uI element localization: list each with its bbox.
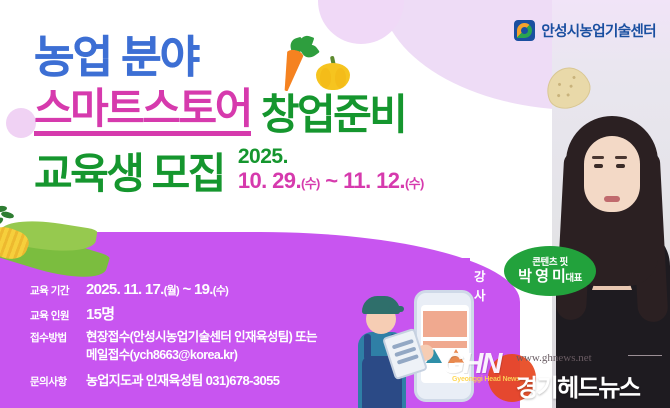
headline-line-2: 스마트스토어 창업준비 [34, 88, 424, 136]
anseong-agri-logo-icon [514, 20, 535, 41]
background-lilac-dot [6, 108, 36, 138]
period-end-weekday: (수) [213, 285, 228, 297]
portrait-brow-right [615, 156, 627, 159]
instructor-company: 콘텐츠 핏 [532, 258, 568, 268]
org-logo: 안성시농업기술센터 [514, 20, 656, 41]
headline-startup: 창업준비 [261, 94, 406, 136]
headline-line-1: 농업 분야 [34, 36, 424, 80]
detail-row-apply-method: 접수방법 현장접수(안성시농업기술센터 인재육성팀) 또는 메일접수(ych86… [30, 329, 317, 365]
detail-list: 교육 기간 2025. 11. 17.(월) ~ 19.(수) 교육 인원 15… [30, 281, 317, 394]
instructor-badge: 콘텐츠 핏 박 영 미대표 [504, 246, 596, 296]
detail-value-inquiry: 농업지도과 인재육성팀 031)678-3055 [86, 370, 279, 389]
apply-period-year: 2025. [238, 145, 424, 169]
detail-row-capacity: 교육 인원 15명 [30, 303, 317, 324]
detail-label-inquiry: 문의사항 [30, 374, 86, 389]
detail-value-capacity: 15명 [86, 303, 114, 324]
apply-period-start: 10. 29. [238, 168, 301, 193]
apply-period: 2025. 10. 29.(수) ~ 11. 12.(수) [238, 145, 424, 195]
headline-line-3: 교육생 모집 2025. 10. 29.(수) ~ 11. 12.(수) [34, 145, 424, 195]
period-end: ~ 19. [179, 281, 213, 298]
apply-period-start-weekday: (수) [301, 176, 320, 191]
instructor-role: 대표 [565, 273, 581, 284]
org-name: 안성시농업기술센터 [541, 20, 656, 41]
detail-row-period: 교육 기간 2025. 11. 17.(월) ~ 19.(수) [30, 281, 317, 298]
farmer-strap [364, 334, 371, 360]
instructor-name: 박 영 미대표 [518, 269, 582, 285]
detail-row-inquiry: 문의사항 농업지도과 인재육성팀 031)678-3055 [30, 370, 317, 389]
detail-value-apply-method: 현장접수(안성시농업기술센터 인재육성팀) 또는 메일접수(ych8663@ko… [86, 329, 317, 365]
ghn-url: www.ghnews.net [516, 352, 592, 364]
detail-value-period: 2025. 11. 17.(월) ~ 19.(수) [86, 281, 228, 298]
promo-banner: 안성시농업기술센터 농업 분야 스마트스토 [0, 0, 670, 408]
apply-period-range: 10. 29.(수) ~ 11. 12.(수) [238, 169, 424, 194]
corn-icon [0, 212, 110, 286]
apply-period-tilde: ~ [320, 168, 343, 193]
apply-period-end: 11. 12. [343, 168, 405, 193]
headline-smartstore: 스마트스토어 [34, 88, 251, 136]
ghn-logo-subtitle: Gyeonggi Head News [452, 376, 520, 383]
period-start-weekday: (월) [164, 285, 179, 297]
ghn-rule [628, 355, 662, 356]
detail-label-apply-method: 접수방법 [30, 330, 86, 345]
detail-label-period: 교육 기간 [30, 283, 86, 298]
portrait-eye-right [616, 164, 625, 168]
phone-banner [423, 311, 467, 337]
instructor-label: 강사 [474, 266, 485, 304]
headline: 농업 분야 스마트스토어 창업준비 교육생 모집 2025. 10. 29.(수… [34, 36, 424, 195]
portrait-brow-left [592, 156, 604, 159]
farmer-hat [362, 296, 400, 314]
ghn-watermark-text: www.ghnews.net 경기헤드뉴스 [516, 348, 639, 403]
detail-label-capacity: 교육 인원 [30, 308, 86, 323]
apply-period-end-weekday: (수) [405, 176, 424, 191]
headline-recruit: 교육생 모집 [34, 153, 224, 195]
apply-method-line-1: 현장접수(안성시농업기술센터 인재육성팀) 또는 [86, 329, 317, 347]
apply-method-line-2: 메일접수(ych8663@korea.kr) [86, 347, 317, 365]
instructor-person-name: 박 영 미 [518, 268, 565, 285]
period-start: 2025. 11. 17. [86, 281, 164, 298]
ghn-name-korean: 경기헤드뉴스 [516, 368, 639, 403]
portrait-eye-left [594, 164, 603, 168]
portrait-mouth [604, 196, 620, 202]
